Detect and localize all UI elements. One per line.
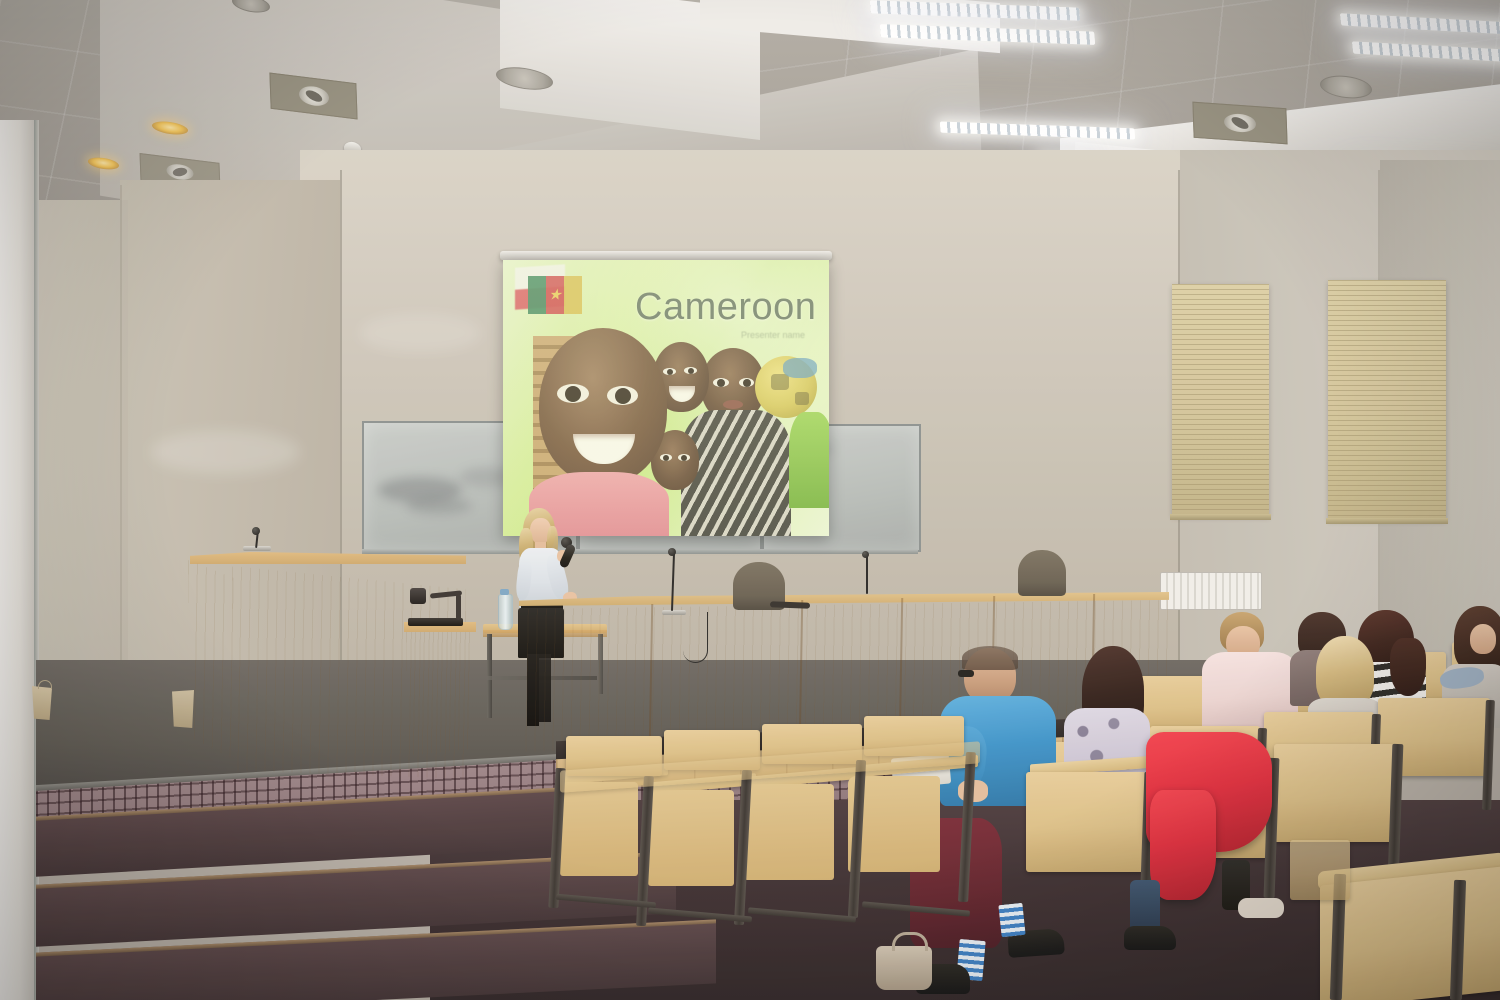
wall-seam <box>120 185 122 705</box>
paper-bag <box>32 686 52 720</box>
desk-microphone-icon-2[interactable] <box>862 551 869 558</box>
side-cabinet <box>406 628 474 756</box>
visualizer-base <box>408 618 463 626</box>
flag-star-icon: ★ <box>548 288 561 303</box>
lecture-hall-photo: ★ Cameroon Presenter name <box>0 0 1500 1000</box>
left-column <box>0 120 36 1000</box>
folding-seat[interactable] <box>560 782 638 876</box>
radiator <box>1160 572 1262 610</box>
visualizer-camera-head <box>410 588 426 604</box>
folding-seat[interactable] <box>744 784 834 880</box>
desk-microphone-icon[interactable] <box>668 548 676 556</box>
striped-sock <box>998 903 1025 937</box>
desk-mic-stem-2 <box>866 556 868 594</box>
handheld-microphone[interactable] <box>559 543 577 569</box>
seat-back-row1[interactable] <box>1274 744 1394 842</box>
podium-top-surface <box>190 552 466 564</box>
glasses-icon <box>958 670 974 677</box>
window-blind-right[interactable] <box>1328 280 1446 520</box>
cameroon-flag-icon: ★ <box>528 276 582 314</box>
handbag <box>876 946 932 990</box>
person-hair-side <box>1390 638 1426 696</box>
photo-child-green-shirt <box>789 412 829 508</box>
panel-chair-right[interactable] <box>1018 550 1066 596</box>
projection-screen: ★ Cameroon Presenter name <box>503 260 829 536</box>
podium-microphone-icon[interactable] <box>252 527 260 535</box>
ventilation-fan <box>1192 102 1287 145</box>
slide-content: ★ Cameroon Presenter name <box>503 260 829 536</box>
seat-back-row1[interactable] <box>1026 772 1146 872</box>
podium-side-panel <box>188 560 234 760</box>
person-hair <box>962 646 1018 670</box>
handbag-handle <box>892 932 928 951</box>
projection-screen-roller[interactable] <box>500 251 832 260</box>
folding-seat[interactable] <box>648 790 734 886</box>
blind-bottom-bar[interactable] <box>1170 514 1271 520</box>
red-jacket-sleeve <box>1150 790 1216 900</box>
person-head <box>1470 624 1496 654</box>
paper-bag <box>172 690 194 728</box>
photo-child-right-shirt <box>681 410 791 536</box>
shoe-light <box>1238 898 1284 918</box>
wall-glare <box>360 315 480 351</box>
photo-football <box>755 356 817 418</box>
foreground-seat[interactable] <box>1290 840 1350 900</box>
slide-title: Cameroon <box>635 286 816 329</box>
mic-cable <box>683 612 708 663</box>
window-blind-left[interactable] <box>1172 284 1269 516</box>
photo-child-main-head <box>539 328 667 484</box>
visualizer-column <box>456 594 461 620</box>
paper-bag-handle <box>38 680 52 689</box>
slide-subtitle: Presenter name <box>741 330 805 340</box>
blind-bottom-bar[interactable] <box>1326 518 1448 524</box>
shoe <box>1124 926 1176 950</box>
wall-glare <box>150 430 300 474</box>
